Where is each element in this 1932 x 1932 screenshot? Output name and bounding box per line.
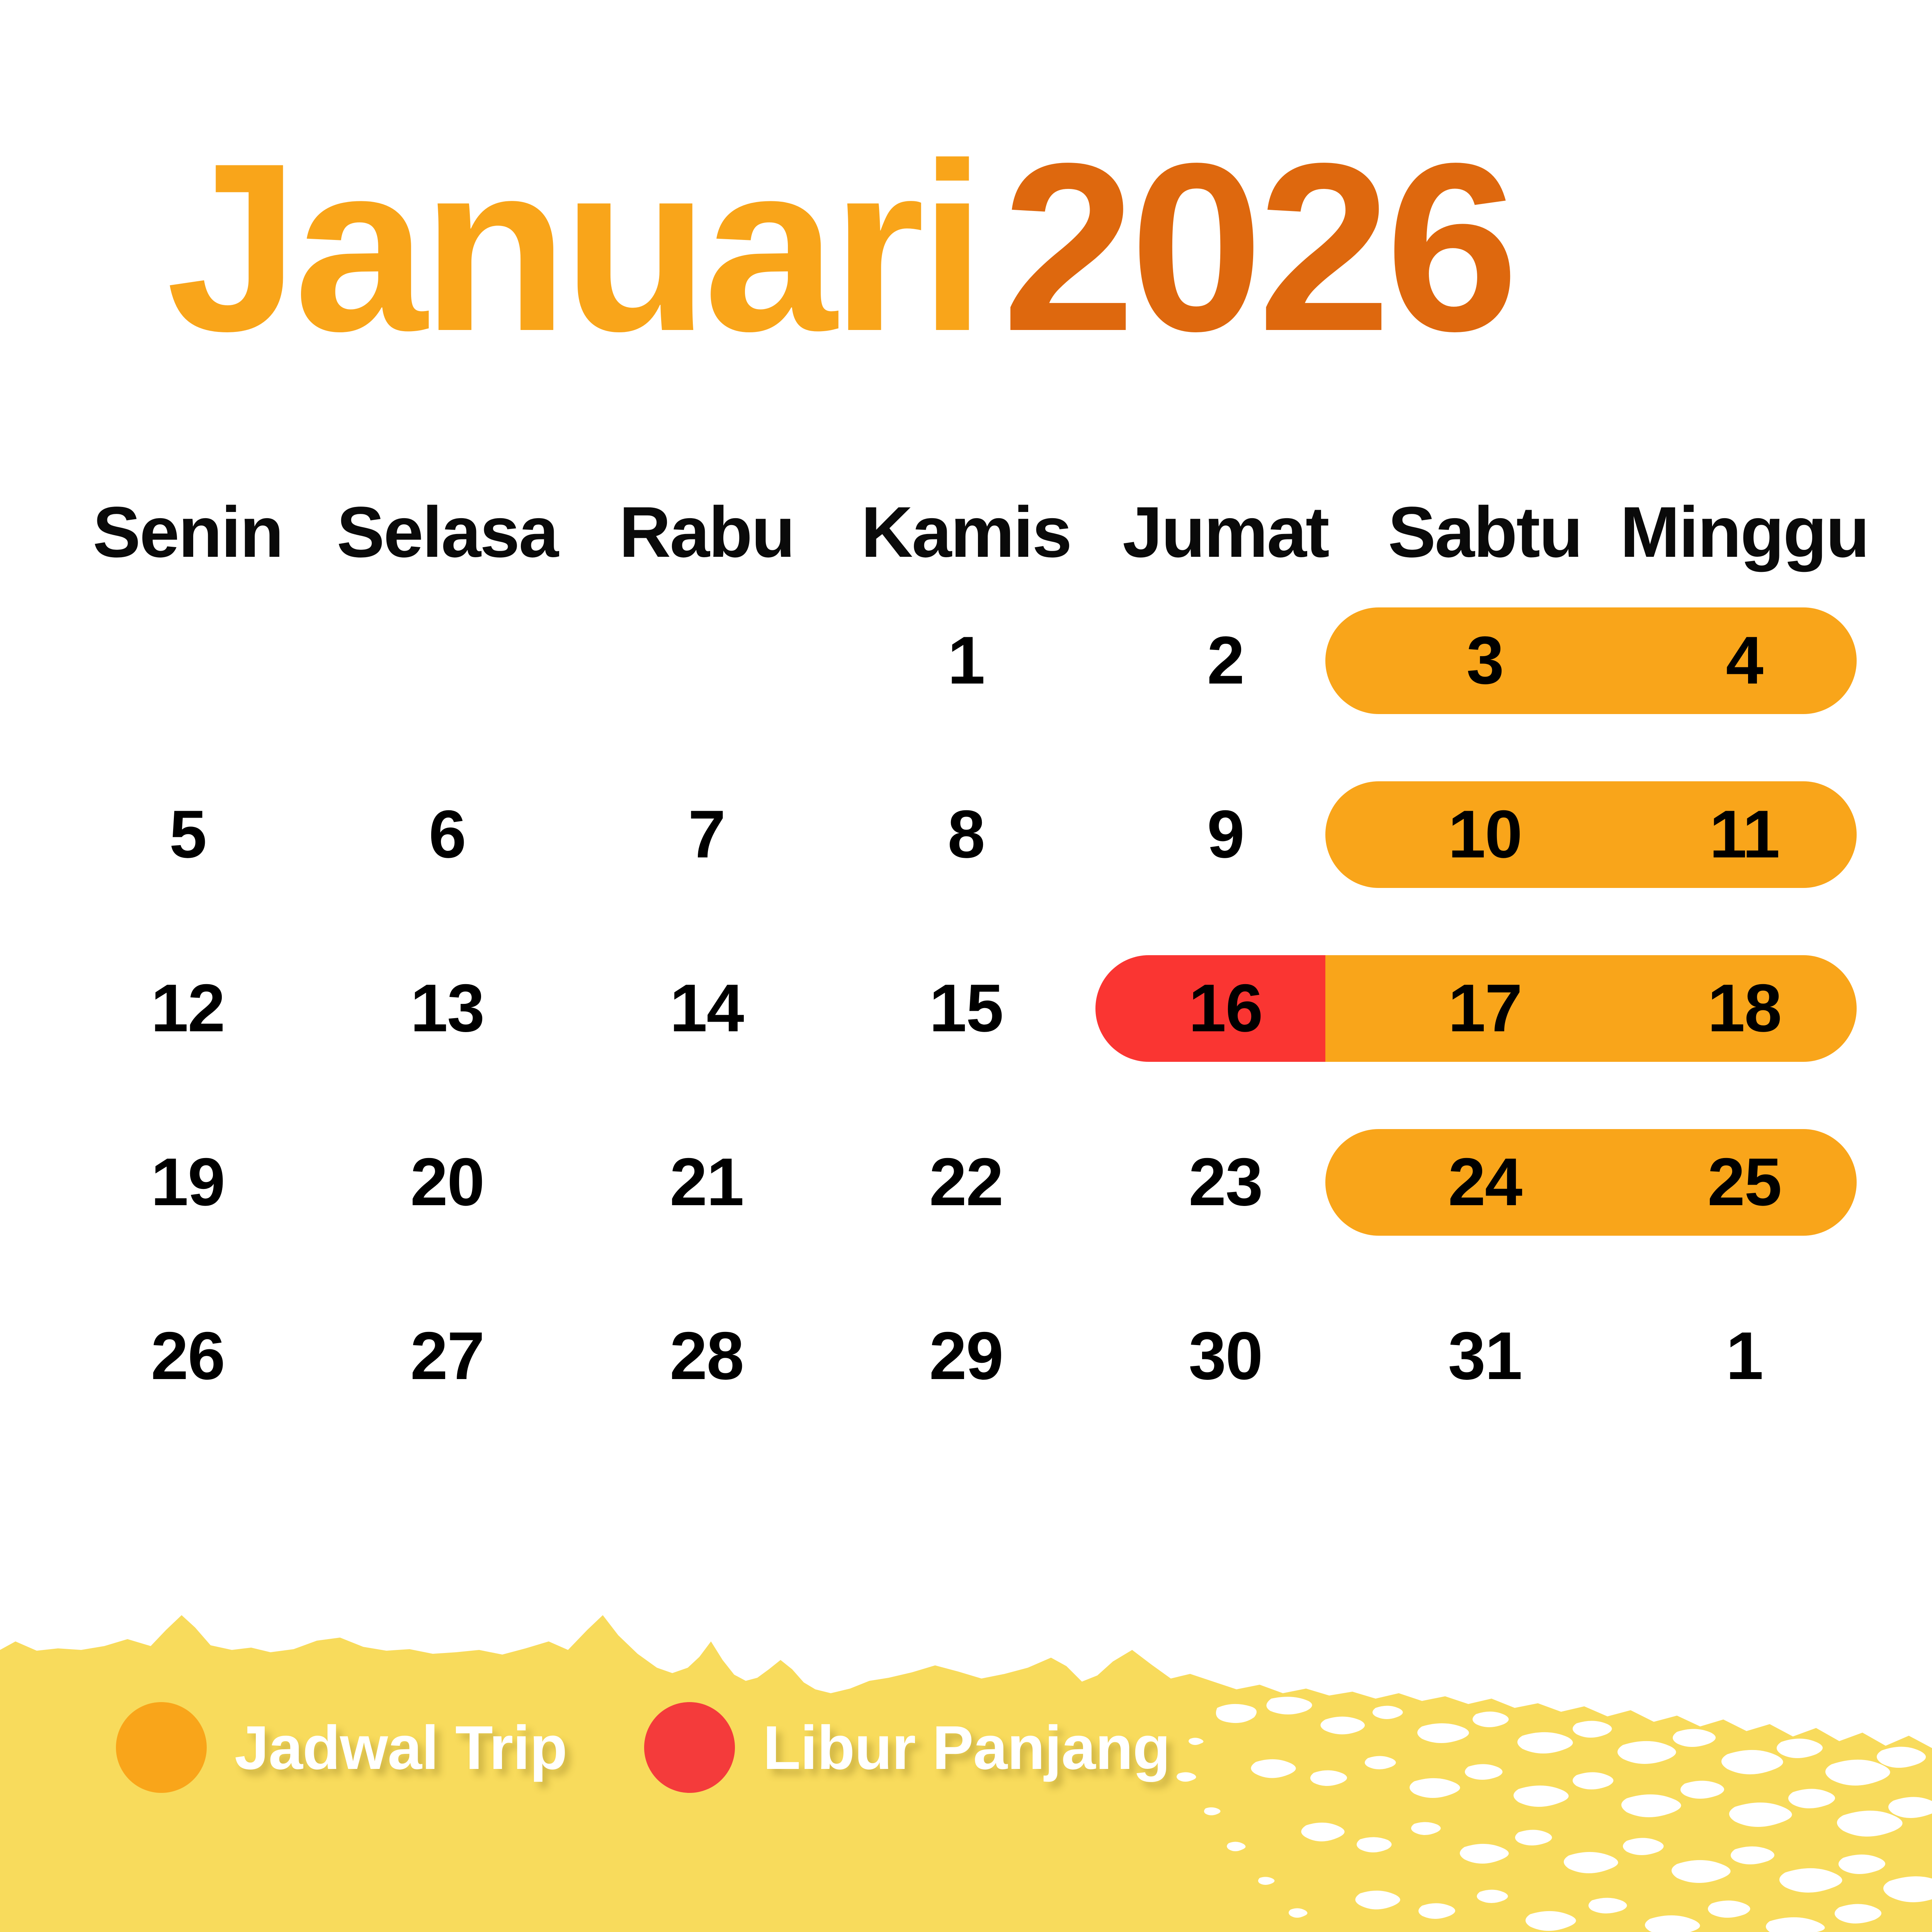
day-cell[interactable]: 3 [1355,574,1614,748]
day-cell[interactable] [577,574,836,748]
day-cell[interactable]: 15 [836,922,1095,1095]
weekday-sabtu: Sabtu [1355,491,1614,574]
day-cell[interactable]: 24 [1355,1095,1614,1269]
day-cell[interactable]: 13 [317,922,577,1095]
day-cell[interactable]: 8 [836,748,1095,922]
day-cell[interactable]: 11 [1615,748,1874,922]
day-cell[interactable]: 28 [577,1269,836,1443]
weekday-selasa: Selasa [317,491,577,574]
day-cell[interactable]: 9 [1096,748,1355,922]
week-row-2: 5 6 7 8 9 10 11 [58,748,1874,922]
day-cell[interactable]: 31 [1355,1269,1614,1443]
day-cell[interactable]: 4 [1615,574,1874,748]
day-cell[interactable]: 17 [1355,922,1614,1095]
day-cell[interactable]: 30 [1096,1269,1355,1443]
weekday-jumat: Jumat [1096,491,1355,574]
day-cell[interactable]: 23 [1096,1095,1355,1269]
day-cell[interactable]: 12 [58,922,317,1095]
day-cell[interactable]: 1 [1615,1269,1874,1443]
day-cell[interactable]: 5 [58,748,317,922]
legend-item-jadwal-trip: Jadwal Trip [116,1702,567,1793]
day-cell[interactable]: 6 [317,748,577,922]
day-cell[interactable]: 25 [1615,1095,1874,1269]
week-row-1: 1 2 3 4 [58,574,1874,748]
day-cell[interactable]: 7 [577,748,836,922]
week-row-4: 19 20 21 22 23 24 25 [58,1095,1874,1269]
circle-icon [644,1702,735,1793]
weekday-minggu: Minggu [1615,491,1874,574]
page-title: Januari2026 [166,128,1514,367]
day-cell[interactable]: 26 [58,1269,317,1443]
day-cell[interactable]: 19 [58,1095,317,1269]
weekday-kamis: Kamis [836,491,1095,574]
week-row-3: 12 13 14 15 16 17 18 [58,922,1874,1095]
day-cell[interactable] [58,574,317,748]
day-cell[interactable]: 29 [836,1269,1095,1443]
legend-item-libur-panjang: Libur Panjang [644,1702,1170,1793]
title-year: 2026 [1002,114,1513,381]
day-cell[interactable]: 22 [836,1095,1095,1269]
weekday-header-row: Senin Selasa Rabu Kamis Jumat Sabtu Ming… [58,491,1874,574]
day-cell[interactable]: 18 [1615,922,1874,1095]
legend: Jadwal Trip Libur Panjang [116,1702,1170,1793]
weekday-rabu: Rabu [577,491,836,574]
weekday-senin: Senin [58,491,317,574]
calendar-grid: Senin Selasa Rabu Kamis Jumat Sabtu Ming… [58,491,1874,1443]
day-cell[interactable]: 16 [1096,922,1355,1095]
day-cell[interactable]: 14 [577,922,836,1095]
day-cell[interactable]: 10 [1355,748,1614,922]
circle-icon [116,1702,207,1793]
day-cell[interactable]: 27 [317,1269,577,1443]
day-cell[interactable]: 20 [317,1095,577,1269]
legend-label: Libur Panjang [763,1712,1170,1783]
legend-label: Jadwal Trip [235,1712,567,1783]
day-cell[interactable] [317,574,577,748]
week-row-5: 26 27 28 29 30 31 1 [58,1269,1874,1443]
day-cell[interactable]: 1 [836,574,1095,748]
title-month: Januari [166,114,980,381]
day-cell[interactable]: 2 [1096,574,1355,748]
day-cell[interactable]: 21 [577,1095,836,1269]
